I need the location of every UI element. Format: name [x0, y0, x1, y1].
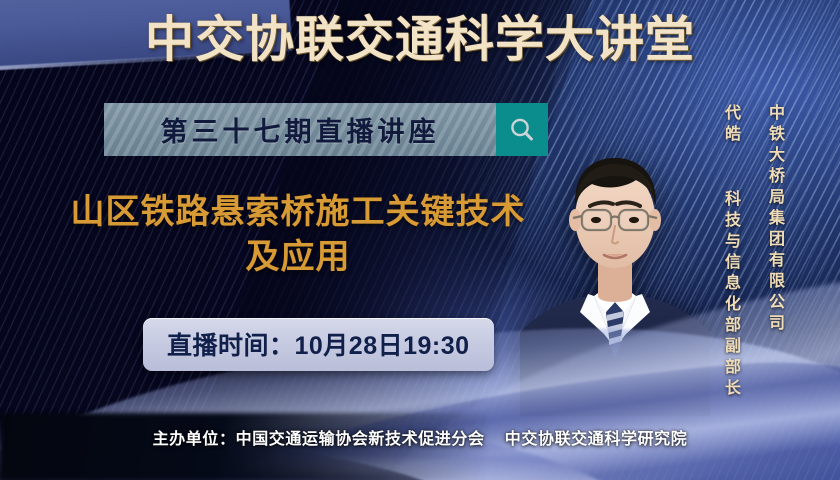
lecture-headline: 山区铁路悬索桥施工关键技术 及应用	[36, 190, 560, 280]
live-stream-poster: 中交协联交通科学大讲堂 第三十七期直播讲座 山区铁路悬索桥施工关键技术 及应用 …	[0, 0, 840, 480]
search-button[interactable]	[496, 103, 548, 156]
speaker-company: 中铁大桥局集团有限公司	[762, 104, 786, 335]
search-icon	[507, 115, 537, 145]
organizer-footer: 主办单位：中国交通运输协会新技术促进分会 中交协联交通科学研究院	[0, 425, 840, 449]
page-title: 中交协联交通科学大讲堂	[0, 14, 840, 65]
headline-line-1: 山区铁路悬索桥施工关键技术	[71, 193, 526, 231]
live-time-badge: 直播时间：10月28日19:30	[143, 318, 494, 371]
episode-label: 第三十七期直播讲座	[104, 103, 496, 156]
speaker-name-and-title: 代皓 科技与信息化部副部长	[718, 104, 742, 400]
headline-line-2: 及应用	[36, 235, 560, 280]
episode-banner: 第三十七期直播讲座	[104, 103, 548, 156]
episode-bar: 第三十七期直播讲座	[104, 103, 496, 156]
